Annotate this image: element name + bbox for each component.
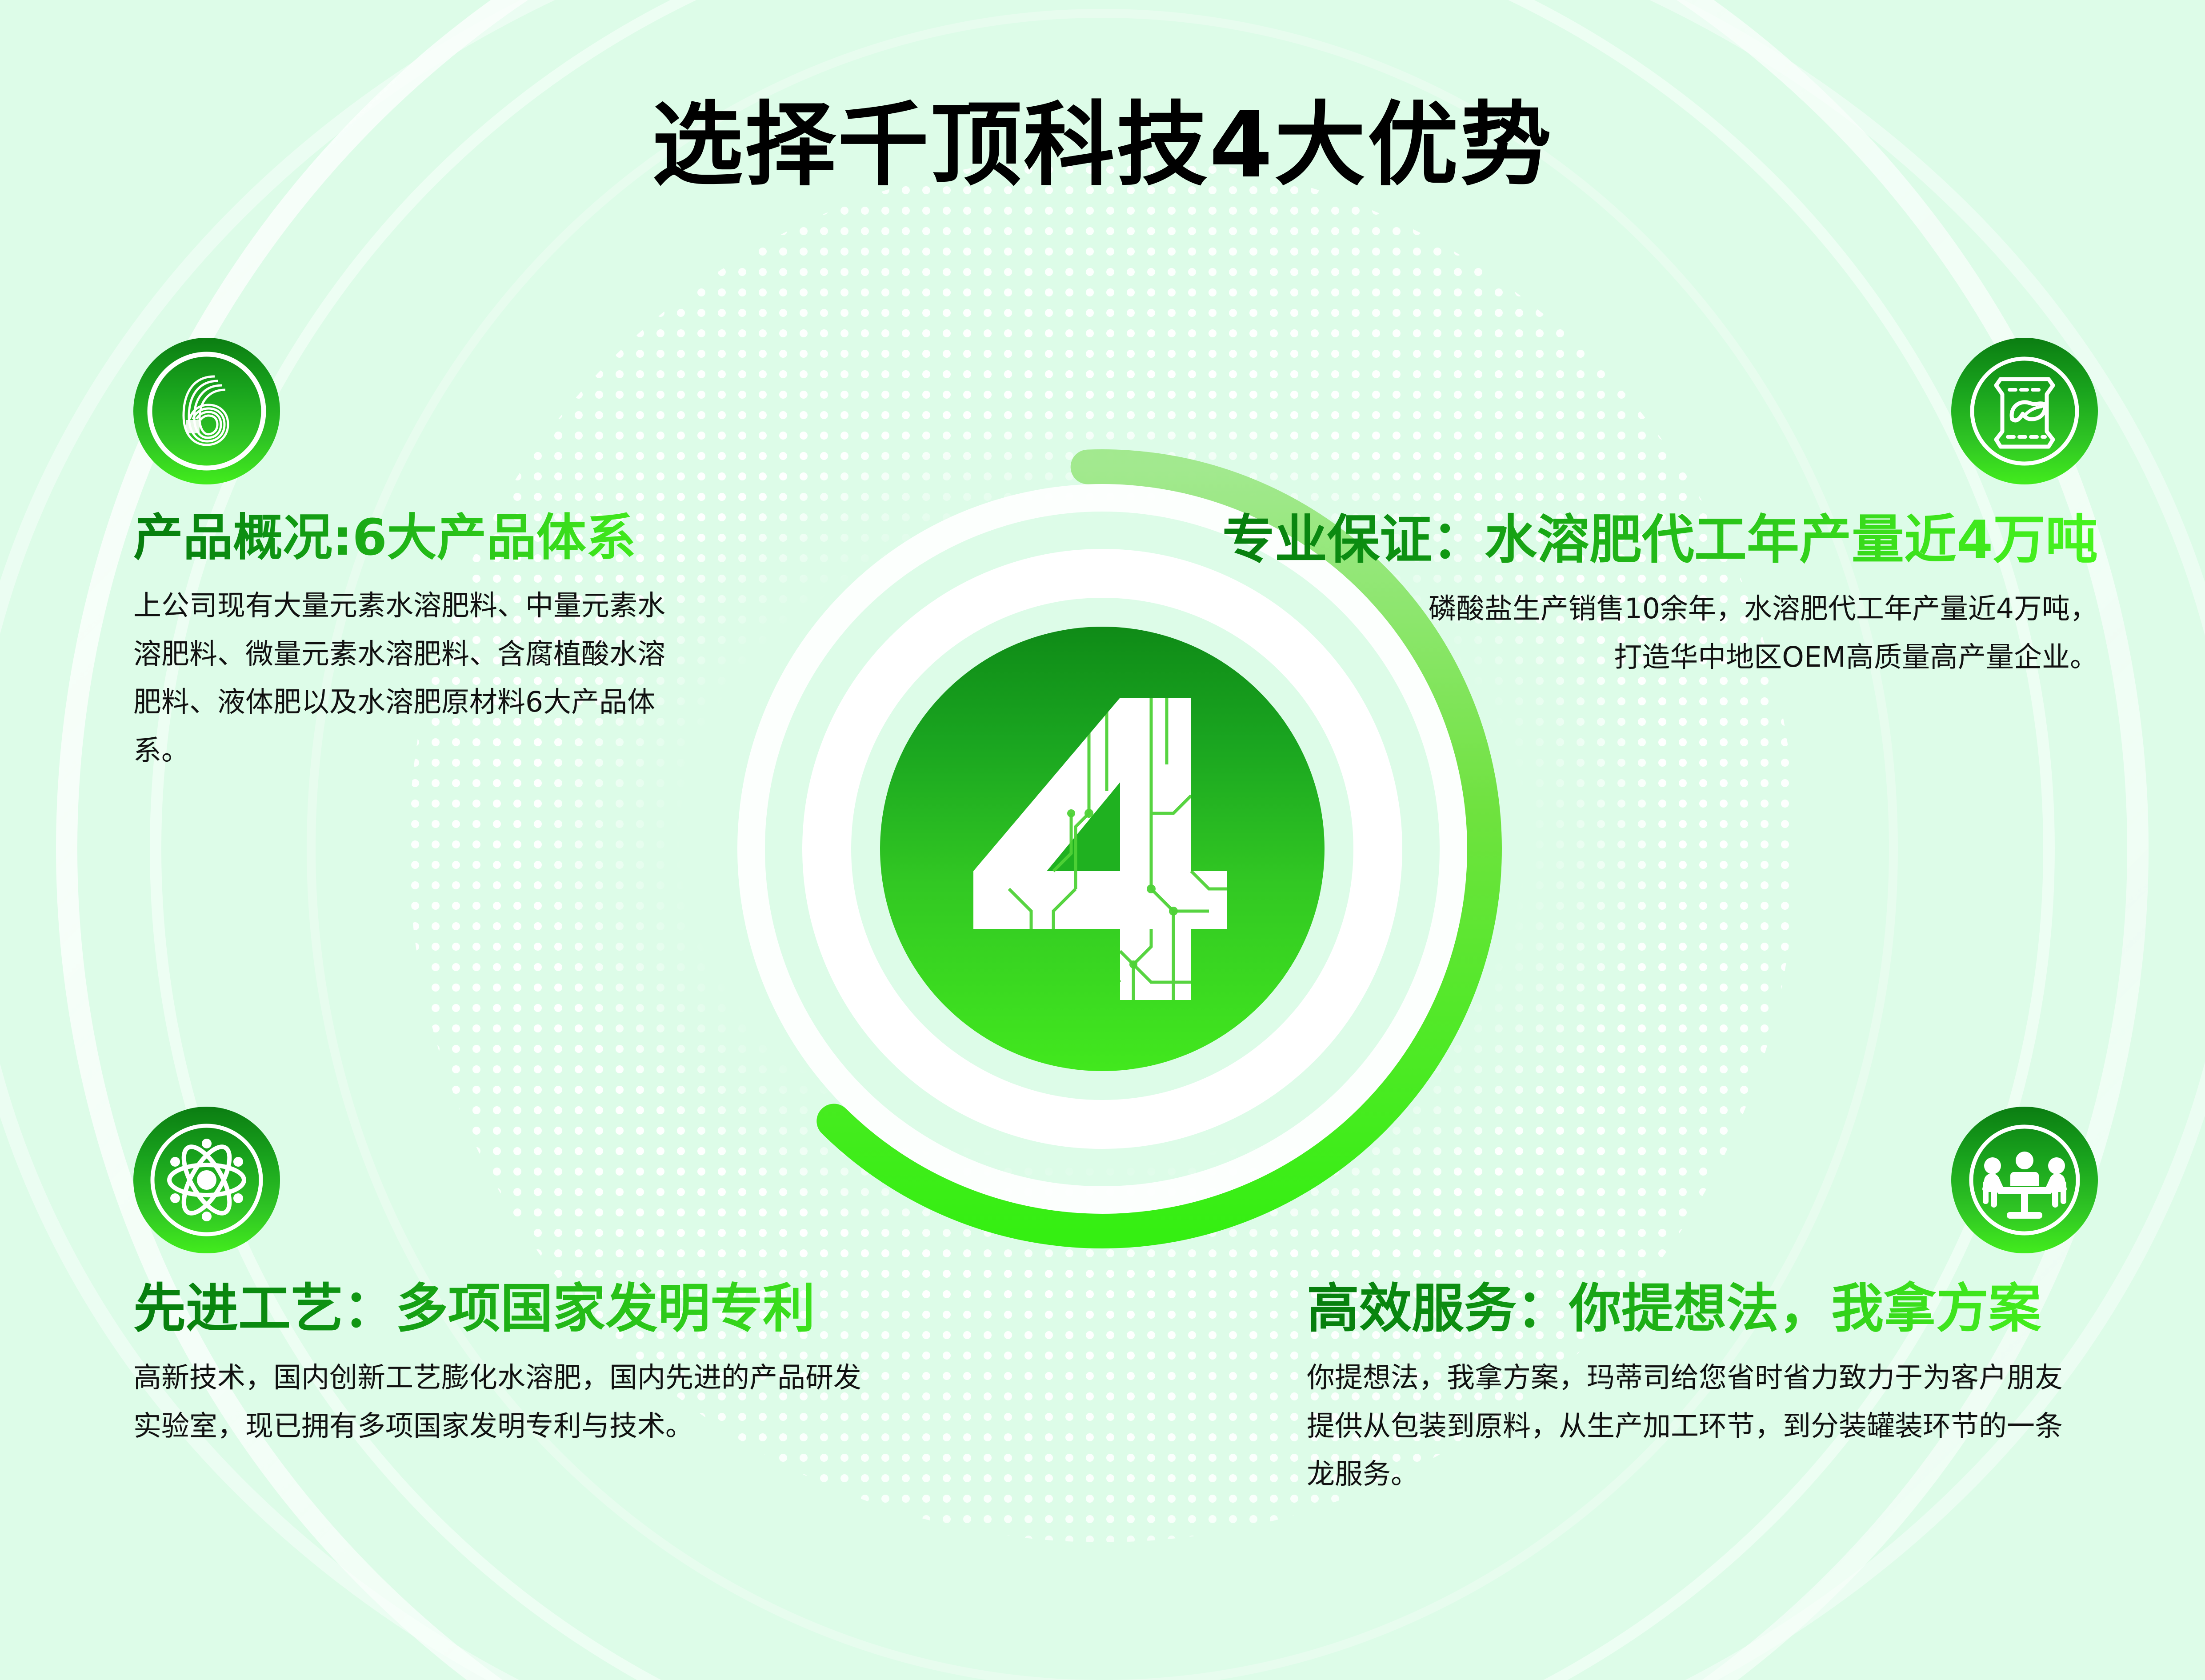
fertilizer-bag-glyph-icon xyxy=(1958,344,2091,478)
advantage-body-top-right: 磷酸盐生产销售10余年，水溶肥代工年产量近4万吨，打造华中地区OEM高质量高产量… xyxy=(1405,585,2098,681)
page-title: 选择千顶科技4大优势 xyxy=(0,100,2205,191)
advantage-block-top-left: 产品概况:6大产品体系 上公司现有大量元素水溶肥料、中量元素水溶肥料、微量元素水… xyxy=(133,338,711,775)
advantage-block-bottom-left: 先进工艺：多项国家发明专利 高新技术，国内创新工艺膨化水溶肥，国内先进的产品研发… xyxy=(133,1107,1000,1450)
advantage-block-bottom-right: 高效服务：你提想法，我拿方案 你提想法，我拿方案，玛蒂司给您省时省力致力于为客户… xyxy=(1307,1107,2098,1498)
advantage-body-bottom-left: 高新技术，国内创新工艺膨化水溶肥，国内先进的产品研发实验室，现已拥有多项国家发明… xyxy=(133,1354,889,1450)
number-four-circuit-icon xyxy=(942,680,1262,1018)
atom-icon xyxy=(133,1107,280,1253)
six-glyph-icon xyxy=(140,344,273,478)
advantage-body-top-left: 上公司现有大量元素水溶肥料、中量元素水溶肥料、微量元素水溶肥料、含腐植酸水溶肥料… xyxy=(133,582,684,774)
center-number-circle xyxy=(880,627,1325,1071)
team-meeting-glyph-icon xyxy=(1958,1113,2091,1247)
fertilizer-bag-icon xyxy=(1951,338,2098,484)
advantage-heading-top-right: 专业保证：水溶肥代工年产量近4万吨 xyxy=(1209,510,2098,569)
advantage-heading-top-left: 产品概况:6大产品体系 xyxy=(133,510,711,566)
advantage-heading-bottom-left: 先进工艺：多项国家发明专利 xyxy=(133,1279,1000,1338)
advantage-block-top-right: 专业保证：水溶肥代工年产量近4万吨 磷酸盐生产销售10余年，水溶肥代工年产量近4… xyxy=(1209,338,2098,681)
number-six-circle-icon xyxy=(133,338,280,484)
atom-glyph-icon xyxy=(140,1113,273,1247)
meeting-team-icon xyxy=(1951,1107,2098,1253)
advantage-heading-bottom-right: 高效服务：你提想法，我拿方案 xyxy=(1307,1279,2098,1338)
advantage-body-bottom-right: 你提想法，我拿方案，玛蒂司给您省时省力致力于为客户朋友提供从包装到原料，从生产加… xyxy=(1307,1354,2080,1498)
